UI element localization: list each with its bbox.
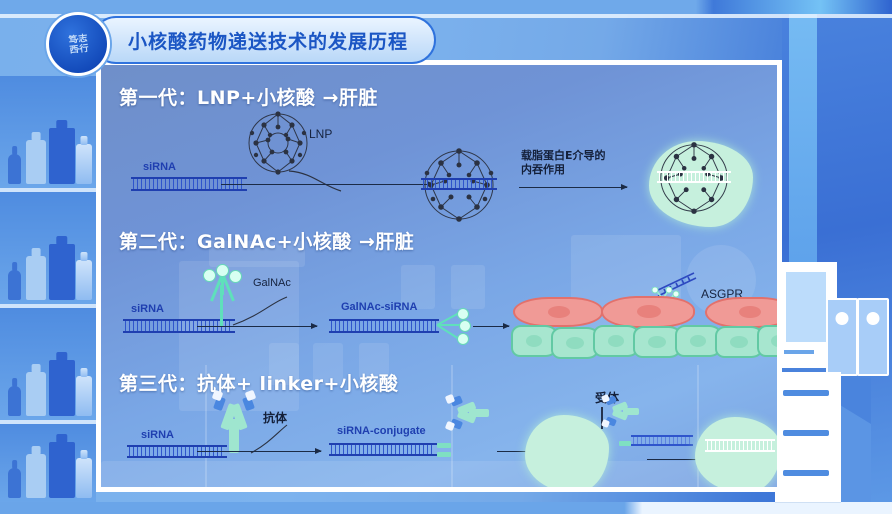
shelf-unit-4 (0, 424, 96, 502)
background-top-strip (0, 0, 892, 14)
bottle-medium (26, 256, 46, 300)
gen2-galnac-label: GalNAc (253, 277, 291, 289)
brand-logo-mark: 笃·志西·行 (68, 33, 88, 55)
gen2-sirna-label: siRNA (131, 303, 164, 315)
cabinet-handle (784, 350, 814, 354)
drawer-2 (775, 422, 841, 463)
gen3-bound-sirna (631, 435, 693, 446)
page-title: 小核酸药物递送技术的发展历程 (128, 27, 408, 54)
poster-title-pill: 小核酸药物递送技术的发展历程 (92, 16, 436, 64)
gen2-conjugate-duplex (329, 319, 439, 333)
gen3-linker-1 (437, 443, 451, 448)
bottle-small (8, 386, 21, 416)
bottle-tall (76, 260, 92, 300)
gen2-galnac-connector (227, 295, 291, 329)
bottle-large (49, 128, 75, 184)
gen3-linker-2 (437, 452, 451, 457)
gen2-arrow-2 (473, 326, 509, 327)
gen1-lnp-label: LNP (309, 127, 332, 141)
generation-1-title: 第一代：LNP+小核酸 →肝脏 (119, 83, 378, 110)
gen3-bound-antibody-icon (605, 393, 639, 427)
background-bottom-strip (0, 502, 892, 514)
binder-left (826, 298, 858, 376)
gen2-conjugate-label: GalNAc-siRNA (341, 301, 417, 313)
gen2-galnac-sugar-3 (229, 270, 242, 283)
gen1-process-line2: 内吞作用 (521, 163, 565, 176)
generation-1-row: 第一代：LNP+小核酸 →肝脏 siRNA (101, 65, 782, 213)
gen1-released-sirna (657, 171, 731, 183)
gen2-conjugate-sugar-1 (457, 308, 469, 320)
drawer-handle (783, 470, 829, 476)
gen2-liver-cell-pink-2 (601, 296, 695, 328)
poster-canvas: 小核酸药物递送技术的发展历程 笃·志西·行 第一代：LNP+小核酸 →肝脏 si… (0, 0, 892, 514)
bottle-large (49, 244, 75, 300)
bottle-small (8, 468, 21, 498)
gen1-arrow-1 (221, 184, 433, 185)
gen2-galnac-sugar-2 (216, 264, 229, 277)
gen2-liver-cell-pink-3 (705, 297, 782, 328)
shelf-unit-1 (0, 76, 96, 192)
shelf-unit-2 (0, 192, 96, 308)
bottle-tall (76, 144, 92, 184)
gen3-target-cell-2 (695, 417, 781, 492)
bottle-tall (76, 376, 92, 416)
gen3-arrow-1 (197, 451, 321, 452)
bottle-medium (26, 140, 46, 184)
gen1-process-line1: 载脂蛋白E介导的 (521, 149, 606, 162)
gen1-sirna-label: siRNA (143, 161, 176, 173)
drawer-handle (783, 430, 829, 436)
gen2-galnac-sugar-1 (203, 269, 216, 282)
gen3-sirna-label: siRNA (141, 429, 174, 441)
wall-cabinet-inner (784, 270, 828, 344)
diagram-panel: 第一代：LNP+小核酸 →肝脏 siRNA (96, 60, 782, 492)
bottle-large (49, 360, 75, 416)
gen2-arrow-1 (197, 326, 317, 327)
gen2-conjugate-sugar-2 (459, 320, 471, 332)
gen1-lnp-connector (287, 169, 343, 195)
generation-3-title: 第三代：抗体+ linker+小核酸 (119, 369, 398, 396)
gen3-conjugate-duplex (329, 443, 437, 456)
bottle-tall (76, 458, 92, 498)
brand-logo-icon: 笃·志西·行 (46, 12, 110, 76)
gen3-released-sirna (705, 439, 775, 452)
background-right-highlight (789, 0, 817, 300)
gen3-bound-linker (619, 441, 631, 446)
drawer-handle (783, 390, 829, 396)
generation-3-row: 第三代：抗体+ linker+小核酸 siRNA 抗体 siRNA (101, 353, 782, 492)
generation-2-row: 第二代：GalNAc+小核酸 →肝脏 siRNA GalNAc GalNAc-s… (101, 213, 782, 353)
binder-right (857, 298, 889, 376)
gen1-arrow-2 (519, 187, 627, 188)
antibody-cap-right (245, 390, 257, 402)
gen1-encapsulated-sirna (421, 178, 497, 190)
bottle-medium (26, 372, 46, 416)
gen3-conjugate-label: siRNA-conjugate (337, 425, 426, 437)
bottle-medium (26, 454, 46, 498)
bottle-large (49, 442, 75, 498)
drawer-3 (775, 462, 841, 503)
counter-top (775, 372, 841, 382)
gen2-conjugate-sugar-3 (457, 333, 469, 345)
binder-hole-icon (836, 312, 849, 325)
shelf-unit-3 (0, 308, 96, 424)
generation-2-title: 第二代：GalNAc+小核酸 →肝脏 (119, 227, 414, 254)
drawer-1 (775, 382, 841, 423)
gen1-process-label: 载脂蛋白E介导的 内吞作用 (521, 149, 606, 177)
bottle-small (8, 270, 21, 300)
binder-hole-icon (867, 312, 880, 325)
bottle-small (8, 154, 21, 184)
gen3-target-cell-1 (525, 415, 609, 492)
gen3-conjugated-antibody-icon (449, 391, 489, 431)
gen2-liver-cell-pink-1 (513, 297, 603, 327)
